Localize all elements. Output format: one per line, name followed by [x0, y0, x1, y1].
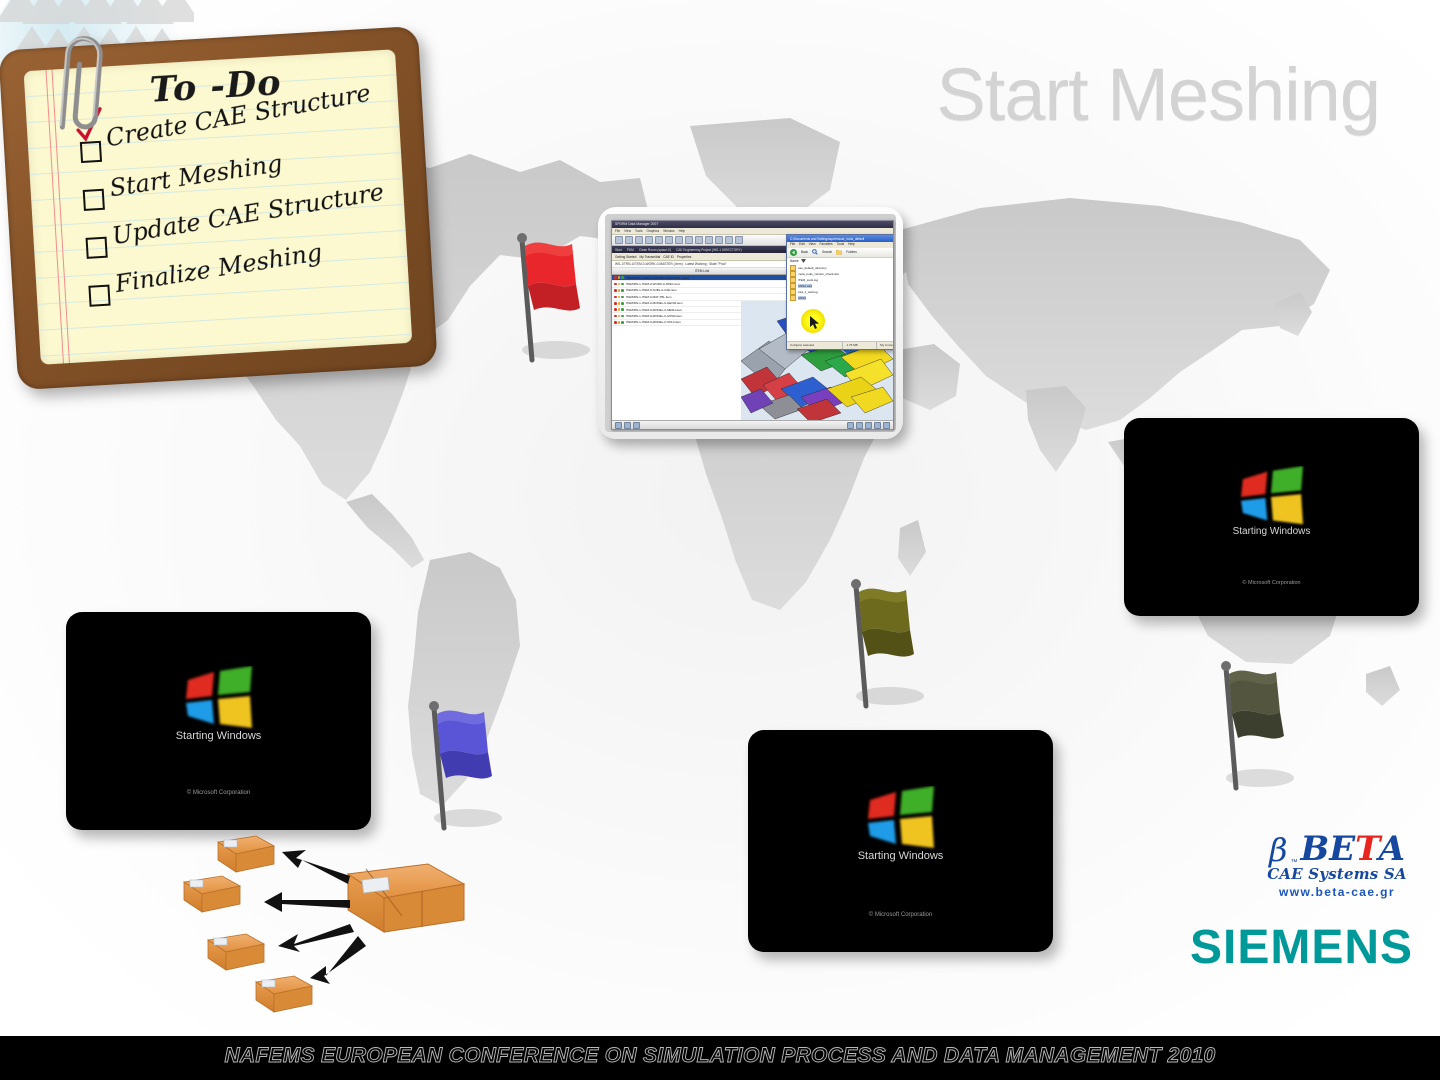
conference-banner-text: NAFEMS EUROPEAN CONFERENCE ON SIMULATION… [0, 1044, 1440, 1068]
column-header-item-link[interactable]: ITEM Link [612, 268, 791, 274]
list-item [256, 976, 312, 1012]
row-item-link: ITEM/RN-1-ITEM-0-WORK-0-SPEC.item [624, 282, 789, 286]
explorer-title-label: C:\Documents and Settings\spdrm\cae_tool… [787, 237, 864, 241]
todo-note: To -Do Create CAE Structure Start Meshin… [0, 26, 438, 390]
explorer-back-label[interactable]: Back [801, 250, 808, 254]
toolbar-icon-filter[interactable] [715, 236, 723, 244]
explorer-folders-label[interactable]: Folders [846, 250, 857, 254]
nav-project[interactable]: CAE Engineering Project (WS-1 DIRECTORY) [676, 248, 742, 252]
pdm-statusbar [612, 420, 893, 429]
windows-explorer-window[interactable]: C:\Documents and Settings\spdrm\cae_tool… [786, 234, 894, 350]
checkbox-start-meshing[interactable] [83, 189, 105, 211]
siemens-logo: SIEMENS [1190, 920, 1413, 975]
app-window-inner: SPDRM Data Manager 2007 File View Tools … [605, 214, 896, 432]
explorer-menu-help[interactable]: Help [848, 242, 855, 248]
status-icon-4[interactable] [847, 422, 854, 429]
toolbar-icon-settings[interactable] [735, 236, 743, 244]
cursor-highlight-circle [801, 309, 825, 333]
status-my-computer: My Computer [877, 342, 894, 349]
flag-dark-sage [1202, 650, 1312, 800]
file-label: ANSA.cad [798, 284, 812, 288]
toolbar-icon-open[interactable] [625, 236, 633, 244]
beta-symbol: β [1269, 834, 1288, 866]
beta-word-prefix: BE [1301, 829, 1356, 869]
explorer-titlebar: C:\Documents and Settings\spdrm\cae_tool… [787, 235, 894, 242]
nav-start[interactable]: Start [615, 248, 622, 252]
boot-copyright: © Microsoft Corporation [748, 912, 1053, 918]
boot-screen-left[interactable]: Starting Windows © Microsoft Corporation [66, 612, 371, 830]
file-label: ITEM_tools.log [798, 278, 818, 282]
beta-word-suffix: A [1379, 829, 1405, 869]
menu-view[interactable]: View [624, 228, 631, 234]
checkbox-update-cae-structure[interactable] [86, 237, 108, 259]
menu-help[interactable]: Help [679, 228, 686, 234]
menu-window[interactable]: Window [663, 228, 674, 234]
checkbox-create-cae-structure[interactable] [80, 141, 102, 163]
flag-olive [832, 568, 942, 718]
toolbar-icon-redo[interactable] [695, 236, 703, 244]
nav-pdm[interactable]: PDM [627, 248, 634, 252]
toolbar-icon-undo[interactable] [685, 236, 693, 244]
toolbar-icon-print[interactable] [645, 236, 653, 244]
status-icon-1[interactable] [615, 422, 622, 429]
mouse-cursor-icon [810, 316, 822, 330]
list-item[interactable]: ANSA [790, 295, 894, 301]
arrow-icon [264, 850, 366, 984]
beta-word: BETA [1301, 832, 1406, 866]
menu-file[interactable]: File [615, 228, 620, 234]
pdm-data-manager-window[interactable]: SPDRM Data Manager 2007 File View Tools … [611, 220, 894, 430]
subbar-properties[interactable]: Properties [677, 255, 692, 259]
status-icon-5[interactable] [856, 422, 863, 429]
explorer-statusbar: 3 objects selected 1.75 MB My Computer [787, 341, 894, 349]
beta-cae-logo[interactable]: β ™ BETA CAE Systems SA www.beta-cae.gr [1252, 832, 1422, 898]
menu-tools[interactable]: Tools [635, 228, 642, 234]
package-distribution-diagram [178, 828, 468, 1028]
slide-root: Start Meshing To -Do Create CAE Structur… [0, 0, 1440, 1080]
menu-graphics[interactable]: Graphics [646, 228, 659, 234]
toolbar-icon-refresh[interactable] [725, 236, 733, 244]
beta-logo-wordmark: β ™ BETA [1252, 832, 1422, 866]
explorer-menu-edit[interactable]: Edit [799, 242, 805, 248]
file-label: meta_tools_version_check.dat [798, 272, 839, 276]
list-item [208, 934, 264, 970]
explorer-menu-tools[interactable]: Tools [837, 242, 844, 248]
boot-label: Starting Windows [1124, 526, 1419, 537]
row-item-link: ITEM/RN-1-ITEM-0-MAT-TBL.item [624, 295, 789, 299]
status-icon-3[interactable] [633, 422, 640, 429]
package-label [362, 877, 389, 893]
file-label: ANSA [798, 296, 806, 300]
explorer-menu-file[interactable]: File [790, 242, 795, 248]
beta-subtitle: CAE Systems SA [1252, 865, 1422, 883]
toolbar-icon-search[interactable] [705, 236, 713, 244]
status-icon-6[interactable] [865, 422, 872, 429]
search-icon[interactable] [812, 249, 818, 255]
status-objects-selected: 3 objects selected [787, 342, 843, 349]
file-icon [790, 295, 796, 301]
folder-icon[interactable] [836, 249, 842, 255]
row-item-link: ITEM/TRN-1-ITEM-0-WORK-0-MASTER (.item) [624, 276, 789, 280]
flag-red [498, 222, 608, 372]
cae-pdm-window[interactable]: SPDRM Data Manager 2007 File View Tools … [598, 207, 903, 439]
boot-screen-right[interactable]: Starting Windows © Microsoft Corporation [1124, 418, 1419, 616]
paperclip-icon [32, 21, 123, 139]
subbar-cae-id[interactable]: CAE ID [663, 255, 674, 259]
explorer-menu-favorites[interactable]: Favorites [820, 242, 833, 248]
nav-clean-room[interactable]: Clean Room (space-0) [639, 248, 671, 252]
toolbar-icon-new[interactable] [615, 236, 623, 244]
toolbar-icon-save[interactable] [635, 236, 643, 244]
list-item [218, 836, 274, 872]
windows-logo-icon [182, 666, 256, 732]
status-icon-8[interactable] [883, 422, 890, 429]
pdm-titlebar-label: SPDRM Data Manager 2007 [612, 221, 893, 228]
explorer-search-label[interactable]: Search [822, 250, 832, 254]
boot-copyright: © Microsoft Corporation [1124, 580, 1419, 586]
beta-website[interactable]: www.beta-cae.gr [1252, 885, 1422, 899]
windows-logo-icon [1237, 466, 1307, 528]
windows-logo-icon [864, 786, 938, 852]
boot-label: Starting Windows [66, 730, 371, 742]
beta-word-red-letter: T [1355, 829, 1378, 869]
explorer-file-list[interactable]: cae_default_directory meta_tools_version… [787, 263, 894, 343]
flag-blue [410, 690, 520, 840]
explorer-menu-view[interactable]: View [809, 242, 816, 248]
pdm-titlebar: SPDRM Data Manager 2007 [612, 221, 893, 228]
boot-copyright: © Microsoft Corporation [66, 790, 371, 796]
toolbar-icon-copy[interactable] [665, 236, 673, 244]
file-label: cad_1_cad.log [798, 290, 818, 294]
status-size: 1.75 MB [843, 342, 877, 349]
list-item [184, 876, 240, 912]
subbar-getting-started[interactable]: Getting Started [615, 255, 636, 259]
footer-bar: NAFEMS EUROPEAN CONFERENCE ON SIMULATION… [0, 1036, 1440, 1080]
boot-screen-center[interactable]: Starting Windows © Microsoft Corporation [748, 730, 1053, 952]
subbar-my-transmittal[interactable]: My Transmittal [639, 255, 660, 259]
todo-list: Create CAE Structure Start Meshing Updat… [79, 105, 406, 315]
toolbar-icon-paste[interactable] [675, 236, 683, 244]
file-label: cae_default_directory [798, 266, 827, 270]
status-icon-7[interactable] [874, 422, 881, 429]
large-package [348, 864, 464, 932]
checkbox-finalize-meshing[interactable] [88, 285, 110, 307]
row-item-link: ITEM/RN-1-ITEM-0-SUBL-0-CAE.item [624, 288, 789, 292]
status-icon-2[interactable] [624, 422, 631, 429]
back-arrow-icon[interactable] [790, 249, 797, 256]
page-title: Start Meshing [936, 52, 1380, 137]
toolbar-icon-cut[interactable] [655, 236, 663, 244]
boot-label: Starting Windows [748, 850, 1053, 862]
explorer-toolbar[interactable]: Back Search Folders [787, 248, 894, 258]
